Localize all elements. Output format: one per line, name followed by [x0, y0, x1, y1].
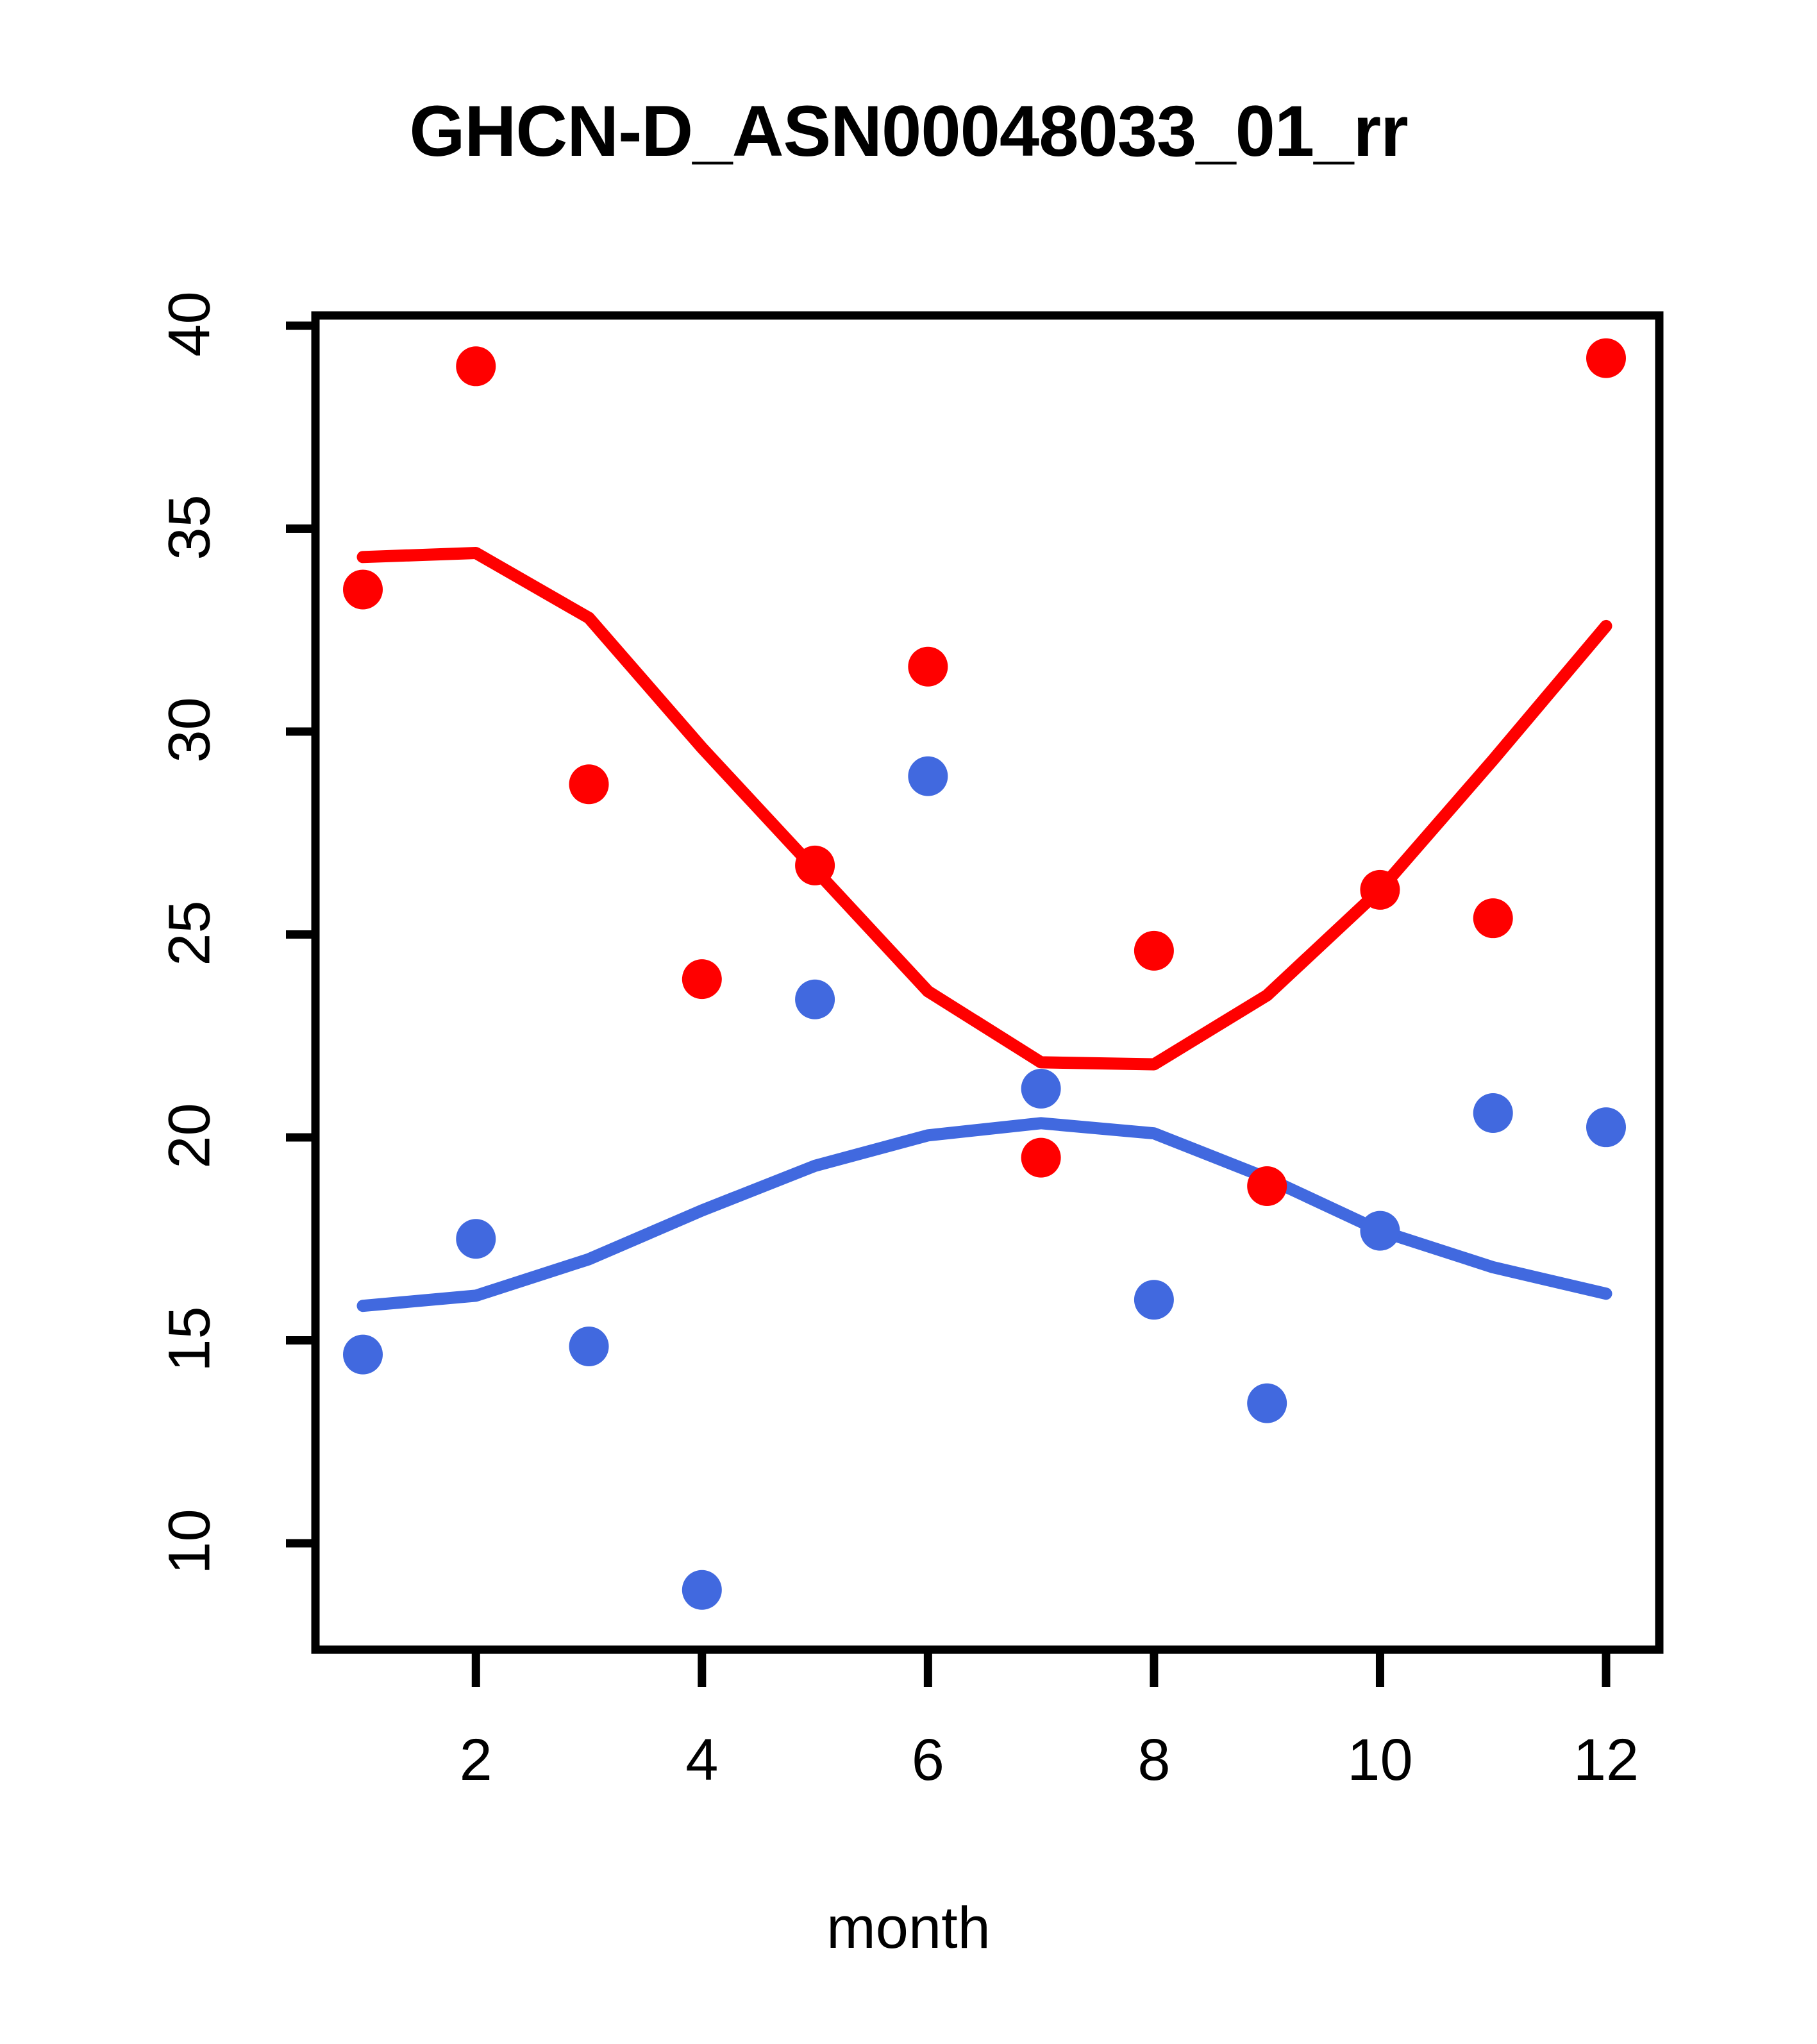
- x-tick-label: 8: [1077, 1727, 1231, 1794]
- data-point: [1586, 1107, 1626, 1147]
- data-point: [1021, 1138, 1061, 1178]
- x-tick-label: 2: [399, 1727, 553, 1794]
- x-tick-label: 10: [1303, 1727, 1457, 1794]
- data-point: [795, 980, 835, 1019]
- plot-frame: [315, 315, 1659, 1650]
- x-axis-label: month: [0, 1895, 1817, 1962]
- y-axis-ticks: [286, 326, 315, 1543]
- data-point: [1360, 1211, 1400, 1251]
- data-point: [1360, 870, 1400, 910]
- x-tick-label: 6: [851, 1727, 1005, 1794]
- data-point: [1021, 1069, 1061, 1109]
- x-tick-label: 4: [625, 1727, 779, 1794]
- plot-figure: GHCN-D_ASN00048033_01_rr 40353025201510 …: [0, 0, 1817, 2044]
- data-point: [1247, 1384, 1287, 1423]
- y-tick-label: 20: [156, 1078, 224, 1194]
- data-point: [343, 569, 383, 609]
- data-point: [1586, 339, 1626, 378]
- data-point: [682, 1570, 722, 1610]
- data-point: [1473, 898, 1513, 938]
- y-tick-label: 40: [156, 267, 224, 382]
- tmin-trend-line: [363, 1123, 1606, 1306]
- data-point: [1134, 1280, 1174, 1319]
- data-point: [1247, 1166, 1287, 1206]
- data-point: [569, 764, 609, 804]
- y-tick-label: 35: [156, 469, 224, 585]
- y-tick-label: 25: [156, 875, 224, 991]
- data-point: [908, 757, 948, 796]
- data-point: [1473, 1093, 1513, 1133]
- data-point: [343, 1335, 383, 1375]
- data-point: [569, 1327, 609, 1366]
- data-point: [795, 846, 835, 885]
- data-point: [908, 647, 948, 687]
- tmin-points: [343, 757, 1626, 1610]
- tmax-trend-line: [363, 553, 1606, 1064]
- y-tick-label: 30: [156, 673, 224, 788]
- y-tick-label: 15: [156, 1281, 224, 1396]
- data-point: [456, 1219, 496, 1259]
- y-tick-label: 10: [156, 1484, 224, 1600]
- tmax-points: [343, 339, 1626, 1206]
- data-point: [1134, 931, 1174, 971]
- x-axis-ticks: [476, 1650, 1606, 1687]
- data-point: [682, 959, 722, 999]
- x-tick-label: 12: [1529, 1727, 1683, 1794]
- data-point: [456, 346, 496, 386]
